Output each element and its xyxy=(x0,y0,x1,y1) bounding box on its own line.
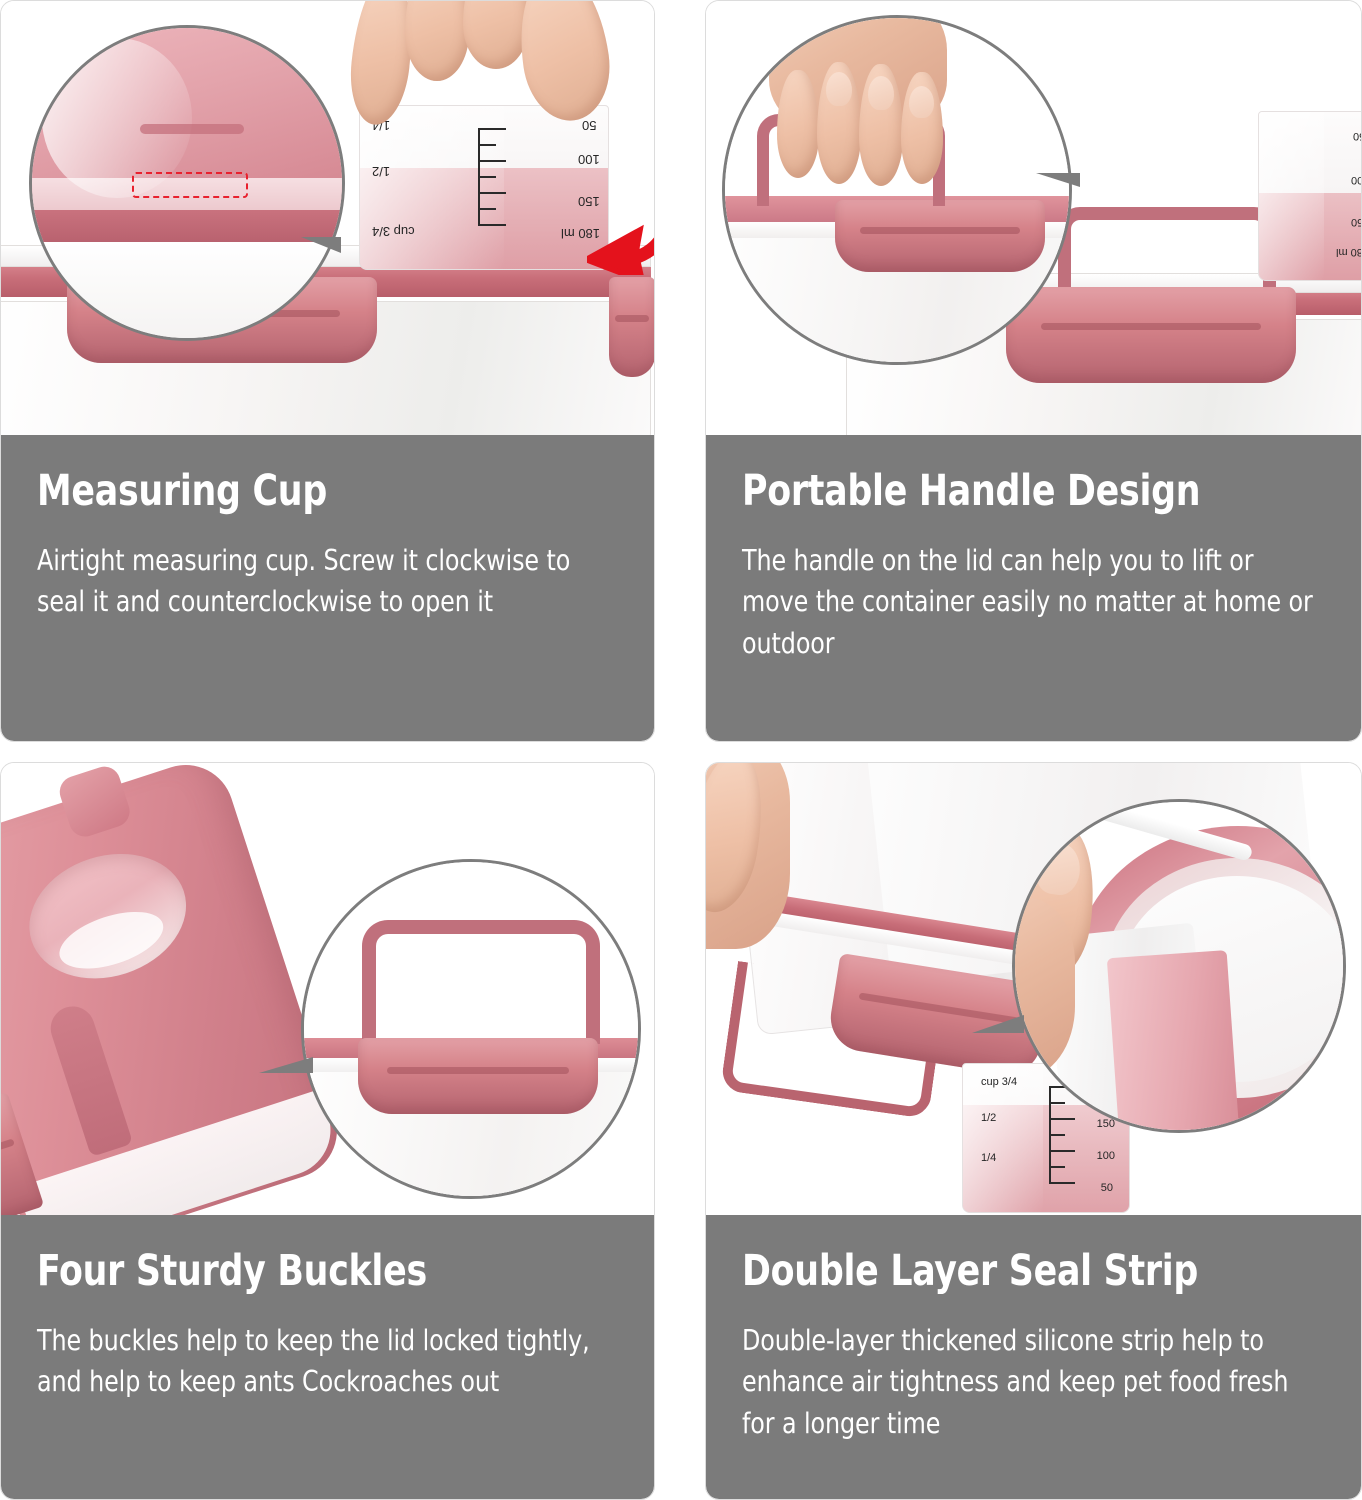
lid-top-view xyxy=(1,763,349,1215)
panel-body: Double-layer thickened silicone strip he… xyxy=(742,1320,1322,1444)
carry-handle xyxy=(1058,207,1276,293)
feature-panel-double-seal: cup 3/4 1/2 1/4 180 ml 150 100 50 xyxy=(705,762,1362,1500)
product-photo-double-seal: cup 3/4 1/2 1/4 180 ml 150 100 50 xyxy=(706,763,1361,1215)
cup-mark-50: 50 xyxy=(1101,1182,1113,1194)
cup-tick xyxy=(480,128,506,130)
cup-tick xyxy=(480,208,496,210)
magnifier-hand-grip xyxy=(722,15,1072,365)
cup-tick xyxy=(480,192,506,194)
feature-panel-portable-handle: 50 100 150 180 ml xyxy=(705,0,1362,742)
caption-portable-handle: Portable Handle Design The handle on the… xyxy=(706,435,1361,741)
measuring-cup: 50 100 150 180 ml 1/4 1/2 cup 3/4 xyxy=(359,105,609,270)
hand-finger xyxy=(463,1,529,69)
hand-finger xyxy=(901,72,943,184)
hand-finger xyxy=(405,1,469,81)
magnifier-buckle-closeup xyxy=(301,859,641,1199)
cup-tick-vertical xyxy=(478,128,480,226)
buckle-right xyxy=(609,277,654,377)
fingernail xyxy=(1033,840,1084,898)
magnifier-seal-strip xyxy=(1012,799,1346,1133)
panel-body: Airtight measuring cup. Screw it clockwi… xyxy=(37,540,615,623)
buckle-in-magnifier xyxy=(358,1038,598,1114)
cup-mark-50: 50 xyxy=(582,118,596,133)
hand-finger xyxy=(817,62,861,184)
cup-fill xyxy=(1259,193,1361,280)
fingernail xyxy=(826,72,852,106)
fingernail xyxy=(868,76,894,110)
caption-four-buckles: Four Sturdy Buckles The buckles help to … xyxy=(1,1215,654,1499)
caption-measuring-cup: Measuring Cup Airtight measuring cup. Sc… xyxy=(1,435,654,741)
cup-tick xyxy=(480,224,506,226)
hand-finger xyxy=(859,64,903,186)
cup-tick xyxy=(1051,1182,1075,1184)
panel-body: The handle on the lid can help you to li… xyxy=(742,540,1322,664)
magnifier-pointer xyxy=(972,1015,1024,1033)
carry-handle-in-magnifier xyxy=(362,920,600,1044)
feature-panel-measuring-cup: 50 100 150 180 ml 1/4 1/2 cup 3/4 xyxy=(0,0,655,742)
cup-tick xyxy=(480,160,506,162)
magnifier-pointer xyxy=(259,1057,313,1073)
cup-mark-100: 100 xyxy=(578,152,600,167)
cup-mark-50: 50 xyxy=(1353,130,1361,142)
cup-tick xyxy=(480,176,496,178)
pink-inner-wall xyxy=(1107,950,1239,1133)
fingernail xyxy=(909,86,934,118)
product-photo-portable-handle: 50 100 150 180 ml xyxy=(706,1,1361,435)
panel-body: The buckles help to keep the lid locked … xyxy=(37,1320,615,1403)
seal-tab-highlight xyxy=(132,172,248,198)
hand-finger xyxy=(777,70,819,178)
cup-tick xyxy=(1051,1150,1075,1152)
cup-mark-three-quarter: cup 3/4 xyxy=(981,1076,1017,1088)
magnifier-pointer xyxy=(1036,173,1080,187)
magnifier-pointer xyxy=(301,237,341,253)
panel-title: Double Layer Seal Strip xyxy=(742,1249,1267,1294)
cup-fill xyxy=(360,168,608,269)
cup-tick xyxy=(1051,1166,1065,1168)
cup-mark-half: 1/2 xyxy=(372,164,390,179)
magnifier-seal-detail xyxy=(29,25,345,341)
cup-mark-180ml: 180 ml xyxy=(1336,246,1361,258)
cup-tick xyxy=(1051,1134,1065,1136)
cup-mark-three-quarter: cup 3/4 xyxy=(372,224,415,239)
cup-mark-half: 1/2 xyxy=(981,1112,996,1124)
panel-title: Four Sturdy Buckles xyxy=(37,1249,560,1294)
caption-double-seal: Double Layer Seal Strip Double-layer thi… xyxy=(706,1215,1361,1499)
cup-mark-quarter: 1/4 xyxy=(981,1152,996,1164)
cup-mark-100: 100 xyxy=(1097,1150,1115,1162)
panel-title: Portable Handle Design xyxy=(742,469,1267,514)
cup-mark-150: 150 xyxy=(1351,216,1361,228)
feature-grid: 50 100 150 180 ml 1/4 1/2 cup 3/4 xyxy=(0,0,1362,1500)
cup-mark-100: 100 xyxy=(1351,174,1361,186)
measuring-cup: 50 100 150 180 ml xyxy=(1258,111,1361,281)
product-photo-four-buckles xyxy=(1,763,654,1215)
cup-tick xyxy=(480,144,496,146)
feature-panel-four-buckles: Four Sturdy Buckles The buckles help to … xyxy=(0,762,655,1500)
panel-title: Measuring Cup xyxy=(37,469,560,514)
rotation-arrow-icon xyxy=(587,167,654,275)
product-photo-measuring-cup: 50 100 150 180 ml 1/4 1/2 cup 3/4 xyxy=(1,1,654,435)
buckle-in-magnifier xyxy=(835,200,1045,272)
